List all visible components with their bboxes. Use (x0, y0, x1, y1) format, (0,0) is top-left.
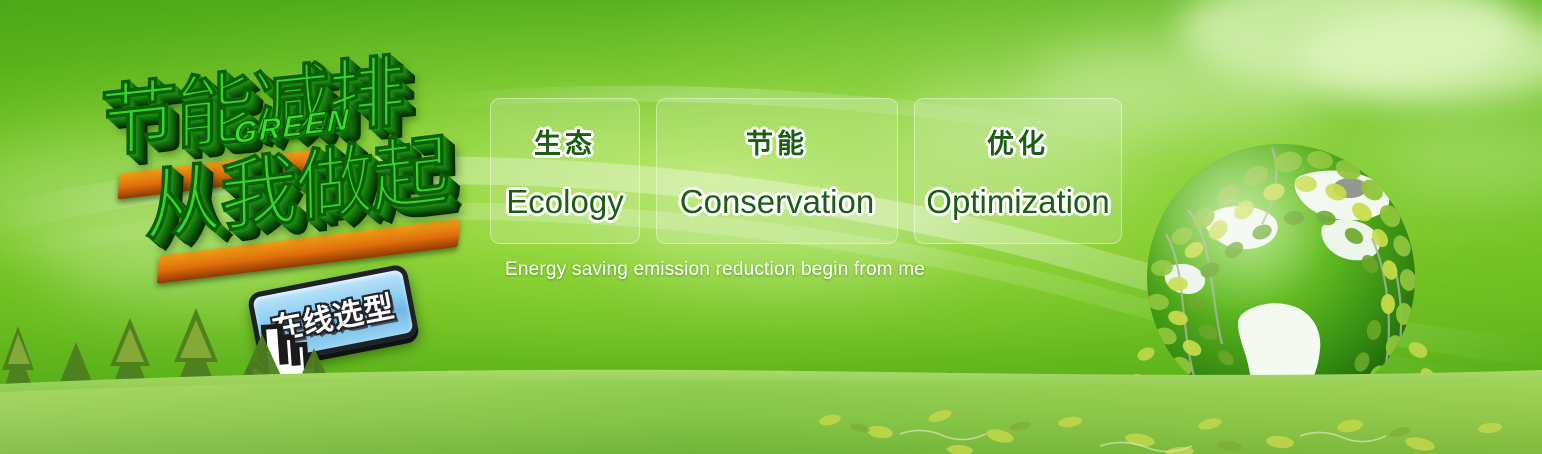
green-energy-banner: 节能减排 从我做起 GREEN 在线选型 生态 Ecology 节能 Conse… (0, 0, 1542, 454)
feature-card-en-label: Ecology (506, 183, 623, 221)
green-leaf-globe-icon (1122, 118, 1440, 436)
feature-card-cn-label: 优化 (987, 122, 1049, 161)
banner-subtitle: Energy saving emission reduction begin f… (505, 259, 925, 281)
feature-card-cn-label: 生态 (534, 122, 596, 161)
feature-card-en-label: Conservation (680, 183, 874, 221)
feature-card-en-label: Optimization (926, 183, 1109, 221)
feature-card-conservation[interactable]: 节能 Conservation (656, 98, 898, 244)
feature-card-cn-label: 节能 (746, 122, 808, 161)
feature-card-optimization[interactable]: 优化 Optimization (914, 98, 1122, 244)
feature-card-ecology[interactable]: 生态 Ecology (490, 98, 640, 244)
